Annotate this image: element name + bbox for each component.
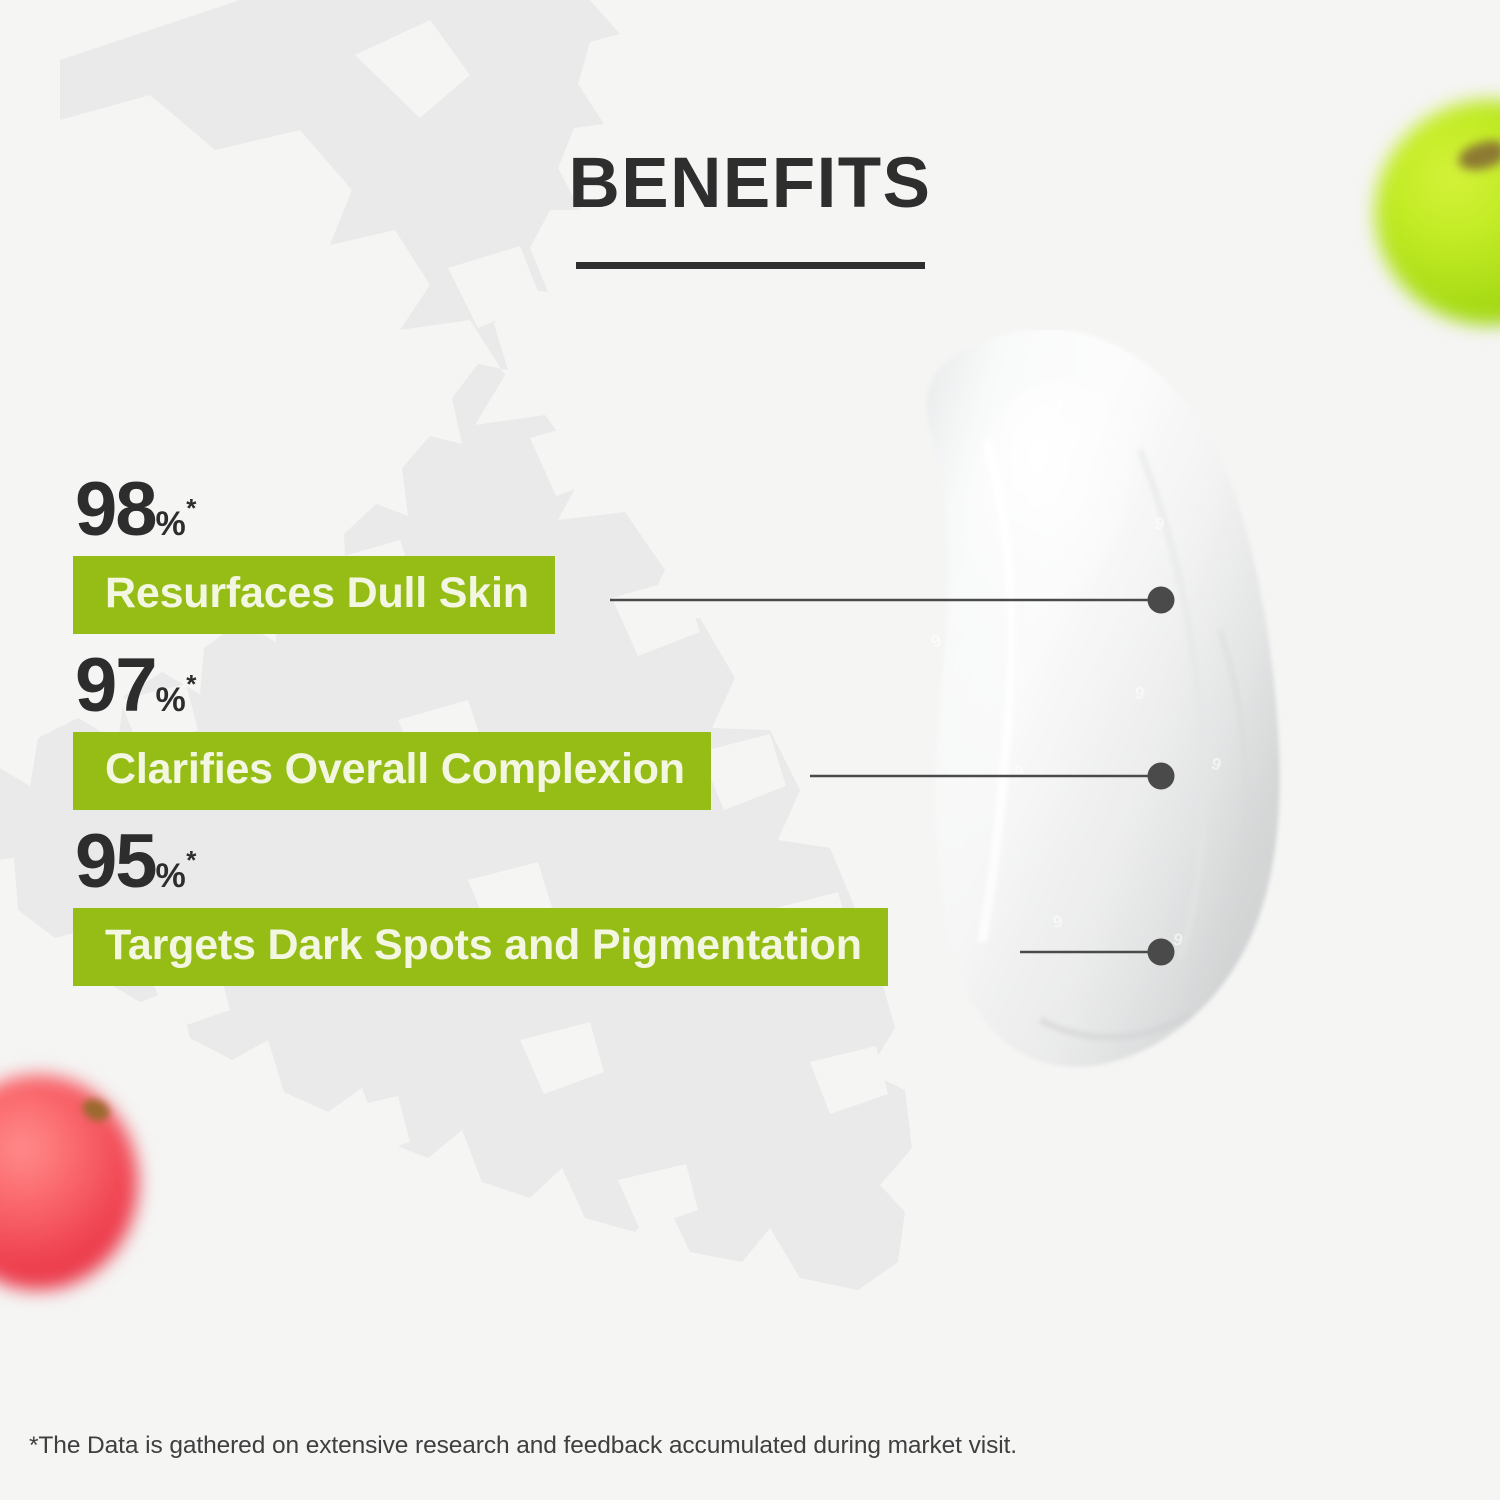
footnote-disclaimer: *The Data is gathered on extensive resea… [29, 1432, 1017, 1460]
benefit-stat: 95%* [75, 824, 888, 900]
benefit-stat-percent: % [156, 857, 186, 895]
benefit-label-bar: Clarifies Overall Complexion [73, 732, 711, 810]
benefits-infographic: 9 9 9 9 9 9 9 9 BENEFITS 98%* Re [0, 0, 1500, 1500]
benefit-stat-number: 97 [75, 643, 156, 728]
benefit-item: 97%* Clarifies Overall Complexion [73, 648, 711, 810]
benefit-stat-number: 95 [75, 819, 156, 904]
svg-text:9: 9 [1153, 513, 1166, 534]
page-title: BENEFITS [0, 148, 1500, 219]
benefit-stat-asterisk: * [186, 845, 196, 875]
red-berry-decor [0, 1075, 138, 1290]
svg-text:9: 9 [1209, 754, 1224, 775]
benefit-label-bar: Resurfaces Dull Skin [73, 556, 555, 634]
svg-text:9: 9 [982, 449, 996, 470]
benefit-stat-asterisk: * [186, 493, 196, 523]
benefit-item: 98%* Resurfaces Dull Skin [73, 472, 555, 634]
benefit-stat-percent: % [156, 505, 186, 543]
cream-swatch-image: 9 9 9 9 9 9 9 9 [890, 330, 1320, 1100]
svg-text:9: 9 [1051, 912, 1064, 932]
title-divider [576, 262, 925, 269]
benefit-item: 95%* Targets Dark Spots and Pigmentation [73, 824, 888, 986]
benefit-stat: 97%* [75, 648, 711, 724]
benefit-stat: 98%* [75, 472, 555, 548]
benefit-stat-number: 98 [75, 467, 156, 552]
svg-text:9: 9 [1013, 761, 1026, 782]
svg-text:9: 9 [1133, 683, 1145, 703]
benefit-stat-percent: % [156, 681, 186, 719]
benefit-label-bar: Targets Dark Spots and Pigmentation [73, 908, 888, 986]
benefit-stat-asterisk: * [186, 669, 196, 699]
svg-text:9: 9 [1171, 929, 1185, 950]
header: BENEFITS [0, 148, 1500, 269]
svg-text:9: 9 [928, 631, 944, 652]
